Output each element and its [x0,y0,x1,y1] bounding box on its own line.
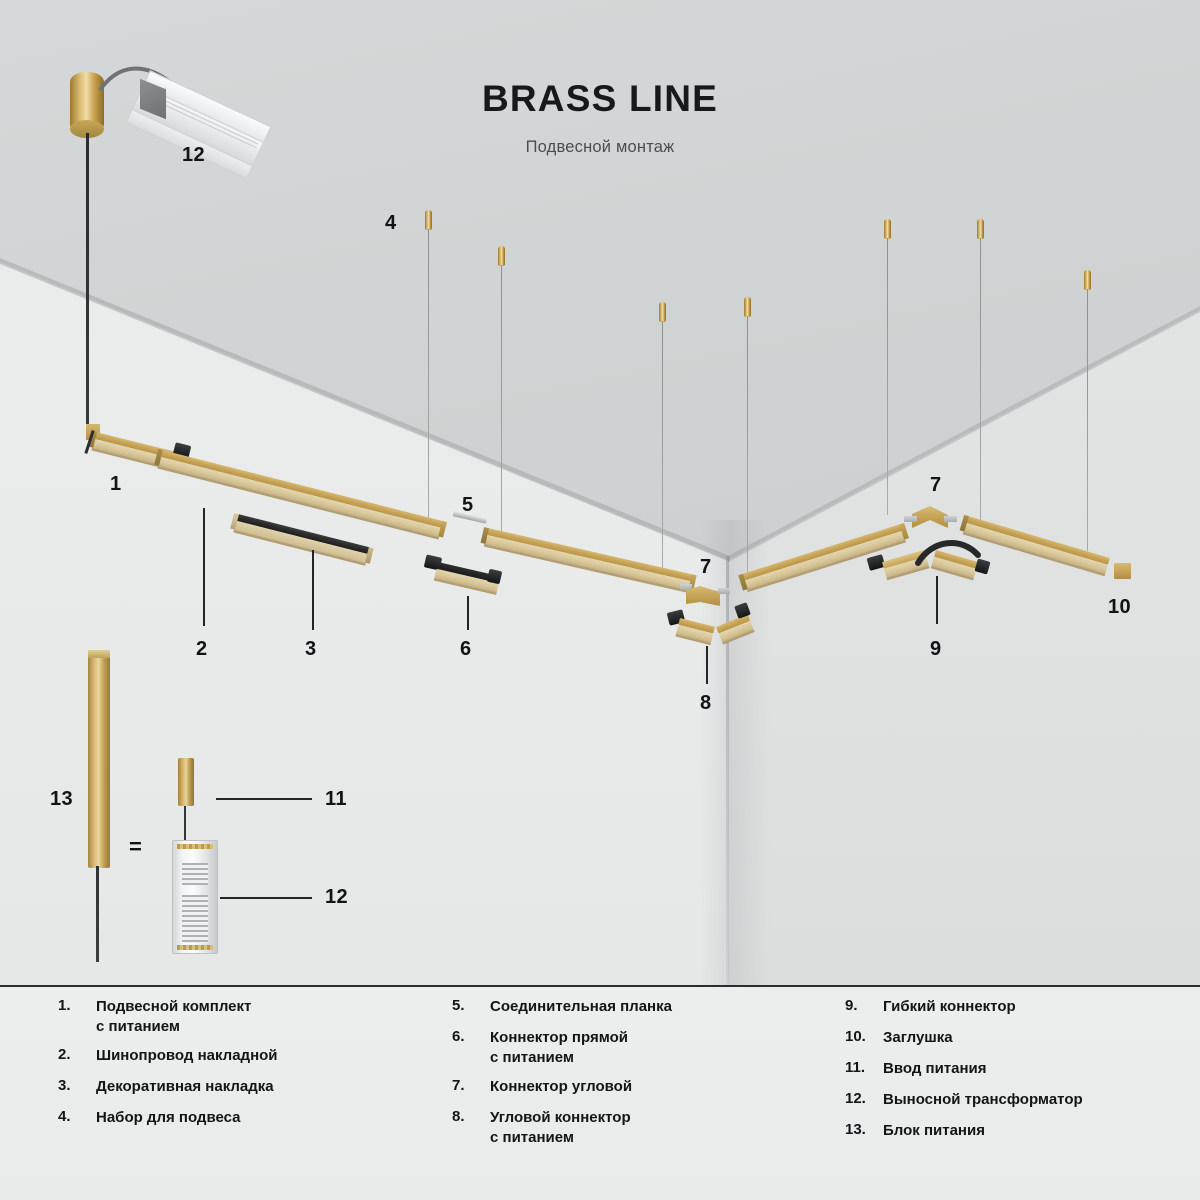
callout-11: 11 [325,788,347,811]
leader-3 [312,550,314,630]
wire-1 [428,229,429,525]
legend-index: 3. [58,1077,92,1094]
legend-label: Блок питания [883,1121,1175,1141]
legend-label: Коннектор прямой с питанием [490,1028,822,1068]
legend-index: 7. [452,1077,486,1094]
legend-index: 9. [845,997,879,1014]
legend-item: 1. Подвесной комплект с питанием [58,997,418,1037]
callout-9: 9 [930,638,942,661]
leader-11 [216,798,312,800]
callout-5: 5 [462,494,474,517]
wire-5 [887,238,888,515]
legend-item: 5. Соединительная планка [452,997,822,1019]
anchor-3 [659,302,666,322]
legend-label: Набор для подвеса [96,1108,418,1128]
product-diagram-page: BRASS LINE Подвесной монтаж 12 [0,0,1200,1200]
legend-index: 5. [452,997,486,1014]
anchor-5 [884,219,891,239]
legend-label: Коннектор угловой [490,1077,822,1097]
callout-10: 10 [1108,596,1131,619]
callout-1: 1 [110,473,122,496]
wire-4 [747,316,748,580]
anchor-4 [744,297,751,317]
vent-grill-lower [182,895,208,943]
legend-index: 10. [845,1028,879,1045]
legend-index: 1. [58,997,92,1014]
legend-item: 12. Выносной трансформатор [845,1090,1175,1112]
callout-6: 6 [460,638,472,661]
leader-6 [467,596,469,630]
transformer-terminals-top [177,844,213,849]
legend-label: Соединительная планка [490,997,822,1017]
legend-item: 8. Угловой коннектор с питанием [452,1108,822,1148]
callout-3: 3 [305,638,317,661]
legend-column-3: 9. Гибкий коннектор 10. Заглушка 11. Вво… [845,997,1175,1152]
legend-column-1: 1. Подвесной комплект с питанием 2. Шино… [58,997,418,1139]
legend-label: Выносной трансформатор [883,1090,1175,1110]
wire-6 [980,238,981,521]
wire-7 [1087,289,1088,551]
legend-item: 7. Коннектор угловой [452,1077,822,1099]
callout-4: 4 [385,212,397,235]
callout-12b: 12 [325,886,348,909]
transformer-terminals-bottom [177,945,213,950]
legend-item: 6. Коннектор прямой с питанием [452,1028,822,1068]
legend-item: 10. Заглушка [845,1028,1175,1050]
power-input-wire [184,806,186,842]
callout-13: 13 [50,788,73,811]
legend-item: 11. Ввод питания [845,1059,1175,1081]
callout-2: 2 [196,638,208,661]
anchor-7 [1084,270,1091,290]
legend-label: Гибкий коннектор [883,997,1175,1017]
leader-8 [706,646,708,684]
legend-label: Подвесной комплект с питанием [96,997,418,1037]
legend-panel: 1. Подвесной комплект с питанием 2. Шино… [0,985,1200,1200]
wire-2 [501,265,502,537]
legend-index: 4. [58,1108,92,1125]
legend-label: Шинопровод накладной [96,1046,418,1066]
anchor-1 [425,210,432,230]
legend-item: 4. Набор для подвеса [58,1108,418,1130]
legend-index: 8. [452,1108,486,1125]
legend-index: 2. [58,1046,92,1063]
legend-item: 13. Блок питания [845,1121,1175,1143]
pendant-cord [86,133,89,433]
callout-7b: 7 [930,474,942,497]
callout-8: 8 [700,692,712,715]
leader-12b [220,897,312,899]
callout-12a: 12 [182,144,205,167]
power-block-cord [96,866,99,962]
anchor-6 [977,219,984,239]
legend-index: 11. [845,1059,879,1076]
legend-label: Заглушка [883,1028,1175,1048]
room-scene: BRASS LINE Подвесной монтаж 12 [0,0,1200,985]
legend-index: 6. [452,1028,486,1045]
leader-2 [203,508,205,626]
vent-grill-upper [182,863,208,885]
callout-7a: 7 [700,556,712,579]
legend-index: 13. [845,1121,879,1138]
leader-9 [936,576,938,624]
legend-item: 9. Гибкий коннектор [845,997,1175,1019]
flex-cable [916,537,986,571]
legend-item: 2. Шинопровод накладной [58,1046,418,1068]
legend-column-2: 5. Соединительная планка 6. Коннектор пр… [452,997,822,1157]
legend-index: 12. [845,1090,879,1107]
legend-label: Ввод питания [883,1059,1175,1079]
legend-label: Угловой коннектор с питанием [490,1108,822,1148]
wire-3 [662,321,663,573]
anchor-2 [498,246,505,266]
equals-sign: = [129,834,142,860]
legend-label: Декоративная накладка [96,1077,418,1097]
legend-item: 3. Декоративная накладка [58,1077,418,1099]
